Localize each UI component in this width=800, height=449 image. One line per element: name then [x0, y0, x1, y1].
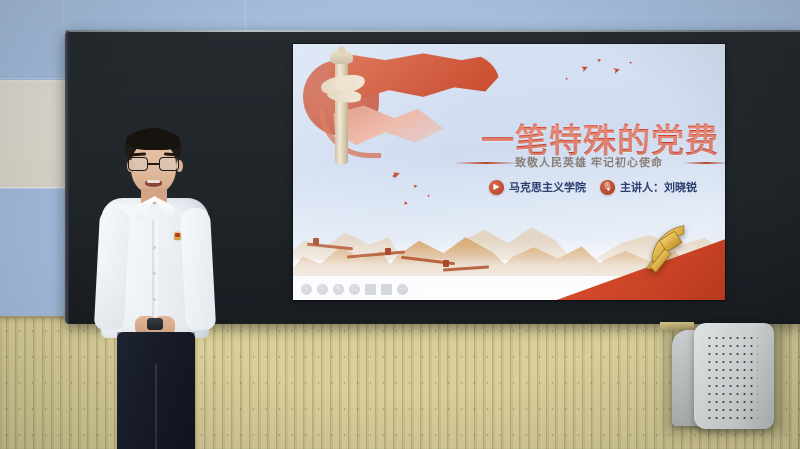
left-arm: [94, 207, 130, 330]
menu-button[interactable]: [365, 284, 376, 295]
board-left-edge: [65, 31, 69, 324]
huabiao-column: [335, 54, 348, 164]
dove-icon: ➤: [565, 77, 569, 81]
trouser-leg-seam: [155, 364, 157, 449]
dove-icon: ➤: [628, 61, 633, 66]
dove-icon: ➤: [579, 63, 590, 74]
right-arm: [180, 207, 216, 330]
slide-subtitle: 致敬人民英雄 牢记初心使命: [489, 154, 689, 170]
party-emblem-pin: [174, 232, 181, 240]
watchtower: [443, 260, 449, 267]
eyeglasses-icon: [128, 157, 179, 171]
slide-presenter-label: 主讲人：刘晓锐: [620, 179, 697, 195]
slide-org: ▶ 马克思主义学院: [489, 179, 586, 195]
flag-curl-ribbon: [319, 108, 381, 158]
speaker-grille: [706, 334, 758, 420]
flag-badge-icon: ▶: [489, 180, 504, 195]
shirt-button: [153, 246, 156, 249]
presenter-figure: [95, 128, 215, 449]
zoom-slide-button[interactable]: ⛶: [349, 284, 360, 295]
subtitle-rule-right: [683, 162, 725, 164]
comments-button[interactable]: [381, 284, 392, 295]
shirt-button: [153, 272, 156, 275]
dove-icon: ➤: [596, 57, 603, 65]
cpc-hammer-sickle-emblem: [637, 220, 697, 280]
dove-icon: ➤: [392, 169, 402, 180]
teeth: [147, 180, 160, 183]
dove-icon: ➤: [413, 184, 419, 191]
watchtower: [313, 238, 319, 245]
dove-icon: ➤: [612, 65, 622, 76]
slide-meta-row: ▶ 马克思主义学院 🎙 主讲人：刘晓锐: [489, 179, 721, 195]
dove-icon: ➤: [427, 194, 431, 199]
microphone-icon: 🎙: [600, 180, 615, 195]
board-top-highlight: [65, 30, 800, 32]
previous-slide-button[interactable]: ‹: [301, 284, 312, 295]
slide-org-label: 马克思主义学院: [509, 179, 586, 195]
pen-tool-button[interactable]: ✎: [333, 284, 344, 295]
next-slide-button[interactable]: ›: [317, 284, 328, 295]
more-options-button[interactable]: ⋯: [397, 284, 408, 295]
glasses-bridge: [148, 163, 159, 165]
watchtower: [385, 248, 391, 255]
classroom-scene: ✦ ➤ ➤ ➤ ➤ ➤ ➤ ➤ ➤ ➤ 一笔特殊的党费 致敬人民英雄 牢记初心使…: [0, 0, 800, 449]
lens-left: [128, 157, 148, 171]
huabiao-finial: [338, 46, 345, 54]
slide-presenter: 🎙 主讲人：刘晓锐: [600, 179, 697, 195]
shirt-button: [153, 298, 156, 301]
hair-fringe: [126, 130, 180, 150]
slideshow-control-bar[interactable]: ‹ › ✎ ⛶ ⋯: [301, 284, 408, 295]
presentation-slide[interactable]: ✦ ➤ ➤ ➤ ➤ ➤ ➤ ➤ ➤ ➤ 一笔特殊的党费 致敬人民英雄 牢记初心使…: [293, 44, 725, 300]
presentation-clicker: [147, 318, 163, 330]
lens-right: [159, 157, 179, 171]
